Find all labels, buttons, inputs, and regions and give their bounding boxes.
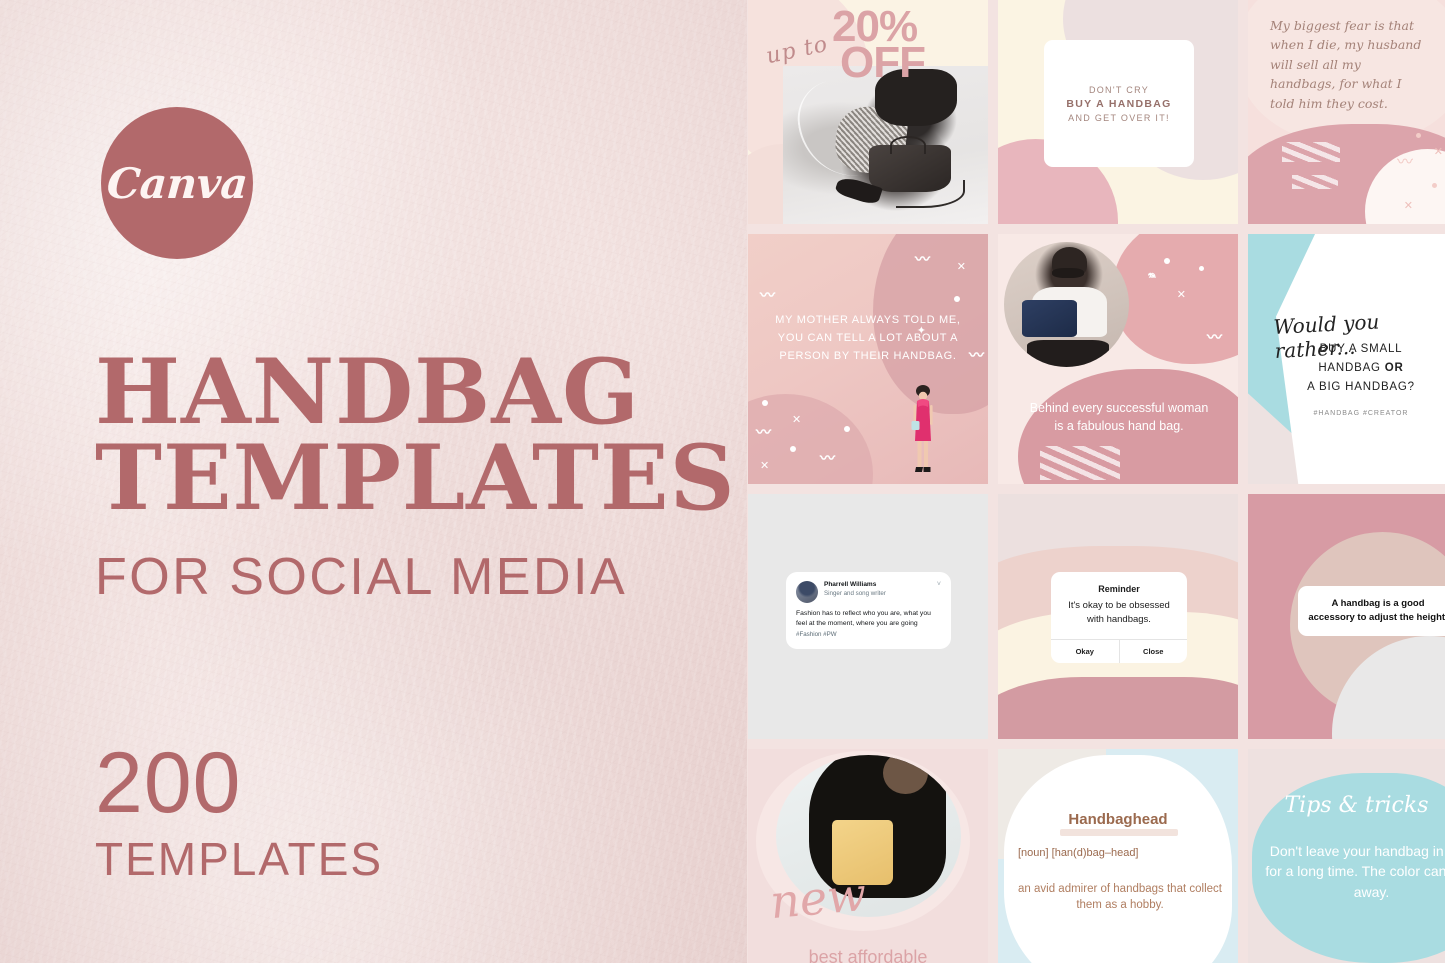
canva-logo-badge: Canva xyxy=(101,107,253,259)
decor-wave: 𝆮 xyxy=(1148,270,1156,285)
hero-panel: Canva HANDBAG TEMPLATES FOR SOCIAL MEDIA… xyxy=(0,0,747,963)
handbag-handle xyxy=(890,136,927,155)
template-tile-accessory[interactable]: A handbag is a good accessory to adjust … xyxy=(1248,494,1445,739)
template-tile-biggest-fear[interactable]: My biggest fear is that when I die, my h… xyxy=(1248,0,1445,224)
decor-dot xyxy=(1416,133,1421,138)
decor-dot xyxy=(790,446,796,452)
canva-wordmark: Canva xyxy=(105,159,249,208)
template-tile-dont-cry[interactable]: DON'T CRY BUY A HANDBAG AND GET OVER IT! xyxy=(998,0,1238,224)
sale-off-label: OFF xyxy=(840,38,925,88)
decor-x: ✕ xyxy=(1434,145,1443,158)
template-tile-behind-woman[interactable]: Behind every successful woman is a fabul… xyxy=(998,234,1238,484)
reminder-dialog: Reminder It's okay to be obsessed with h… xyxy=(1051,572,1187,663)
quote-line-2: BUY A HANDBAG xyxy=(1066,98,1171,110)
template-tile-tweet[interactable]: Pharrell Williams Singer and song writer… xyxy=(748,494,988,739)
model-head xyxy=(883,755,927,794)
handwritten-quote: My biggest fear is that when I die, my h… xyxy=(1270,16,1430,113)
template-count-block: 200 TEMPLATES xyxy=(95,740,383,886)
script-new-label: new xyxy=(768,867,869,929)
decor-dashes xyxy=(1292,175,1338,189)
decor-wave: 〰 xyxy=(1207,326,1222,347)
sunglasses xyxy=(1052,268,1085,278)
model-photo xyxy=(1004,242,1129,367)
caption-text: best affordable handbags xyxy=(762,947,974,963)
promo-cover: Canva HANDBAG TEMPLATES FOR SOCIAL MEDIA… xyxy=(0,0,1445,963)
decor-dot xyxy=(762,400,768,406)
template-tile-sale[interactable]: up to 20% OFF xyxy=(748,0,988,224)
decor-wave: 〰 xyxy=(969,344,984,365)
template-tile-mother-quote[interactable]: MY MOTHER ALWAYS TOLD ME, YOU CAN TELL A… xyxy=(748,234,988,484)
template-grid: up to 20% OFF DON'T CRY BUY A HANDBAG AN… xyxy=(748,0,1445,963)
model-photo xyxy=(783,66,988,224)
decor-dot xyxy=(1432,183,1437,188)
tips-body: Don't leave your handbag in light for a … xyxy=(1262,841,1445,902)
script-headline: Tips & tricks xyxy=(1248,793,1445,818)
question-line-1: BUY A SMALL xyxy=(1320,343,1403,355)
decor-x: ✕ xyxy=(957,260,966,273)
decor-dashes xyxy=(1282,142,1340,162)
template-count-number: 200 xyxy=(95,740,383,826)
headline-block: HANDBAG TEMPLATES FOR SOCIAL MEDIA xyxy=(95,350,695,607)
quote-line-1: DON'T CRY xyxy=(1089,85,1149,95)
decor-dot xyxy=(1164,258,1170,264)
decor-wave: 〰 xyxy=(820,447,835,468)
tweet-author-name: Pharrell Williams xyxy=(824,581,886,590)
navy-handbag xyxy=(1022,300,1077,338)
caption-line-1: best affordable xyxy=(809,947,928,963)
decor-x: ✕ xyxy=(760,459,769,472)
quote-text: MY MOTHER ALWAYS TOLD ME, YOU CAN TELL A… xyxy=(772,312,964,365)
dialog-title: Reminder xyxy=(1051,572,1187,599)
dialog-body: It's okay to be obsessed with handbags. xyxy=(1051,599,1187,639)
page-subtitle: FOR SOCIAL MEDIA xyxy=(95,547,695,607)
question-text: BUY A SMALL HANDBAG OR A BIG HANDBAG? xyxy=(1272,340,1445,397)
woman-illustration xyxy=(906,383,940,478)
question-line-2-prefix: HANDBAG xyxy=(1318,362,1384,374)
chevron-down-icon[interactable]: ˅ xyxy=(937,581,941,588)
decor-dot xyxy=(1199,266,1204,271)
decor-squiggle: 〰 xyxy=(1397,148,1413,172)
decor-x: ✦ xyxy=(917,324,926,337)
decor-band xyxy=(998,494,1238,550)
quote-line-3: AND GET OVER IT! xyxy=(1068,113,1170,123)
decor-white-blob xyxy=(1004,755,1232,963)
tweet-hashtags: #Fashion #PW xyxy=(796,631,941,638)
template-tile-reminder[interactable]: Reminder It's okay to be obsessed with h… xyxy=(998,494,1238,739)
decor-dot xyxy=(954,296,960,302)
decor-band xyxy=(998,677,1238,739)
quote-bubble: A handbag is a good accessory to adjust … xyxy=(1298,586,1445,636)
tweet-body: Fashion has to reflect who you are, what… xyxy=(796,609,941,629)
tweet-author-role: Singer and song writer xyxy=(824,590,886,598)
handbag-strap xyxy=(896,180,966,208)
black-pants xyxy=(1027,340,1110,368)
decor-dashes xyxy=(1040,446,1120,480)
question-line-3: A BIG HANDBAG? xyxy=(1307,381,1415,393)
template-tile-would-you-rather[interactable]: Would you rather... BUY A SMALL HANDBAG … xyxy=(1248,234,1445,484)
okay-button[interactable]: Okay xyxy=(1051,640,1119,663)
tweet-card: Pharrell Williams Singer and song writer… xyxy=(786,572,951,649)
decor-wave: 〰 xyxy=(756,421,771,442)
definition-pronunciation: [noun] [han(d)bag–head] xyxy=(1018,847,1139,859)
template-tile-definition[interactable]: Handbaghead [noun] [han(d)bag–head] an a… xyxy=(998,749,1238,963)
decor-x: ✕ xyxy=(792,413,801,426)
template-tile-new-handbags[interactable]: new best affordable handbags xyxy=(748,749,988,963)
quote-text: Behind every successful woman is a fabul… xyxy=(1024,399,1214,437)
tweet-header: Pharrell Williams Singer and song writer… xyxy=(796,581,941,603)
quote-card: DON'T CRY BUY A HANDBAG AND GET OVER IT! xyxy=(1044,40,1194,167)
decor-x: ✕ xyxy=(1177,288,1186,301)
page-title-line1: HANDBAG xyxy=(95,350,695,436)
decor-dot xyxy=(844,426,850,432)
page-title-line2: TEMPLATES xyxy=(95,436,695,522)
dialog-actions: Okay Close xyxy=(1051,639,1187,663)
decor-underline xyxy=(1060,829,1178,836)
decor-x: ✕ xyxy=(1404,199,1413,212)
definition-word: Handbaghead xyxy=(998,811,1238,828)
definition-meaning: an avid admirer of handbags that collect… xyxy=(1016,881,1224,914)
hashtags: #HANDBAG #CREATOR xyxy=(1272,410,1445,417)
avatar xyxy=(796,581,818,603)
decor-wave: 〰 xyxy=(915,248,930,269)
template-count-label: TEMPLATES xyxy=(95,832,383,886)
close-button[interactable]: Close xyxy=(1119,640,1188,663)
question-line-2-bold: OR xyxy=(1385,362,1404,374)
template-tile-tips-tricks[interactable]: Tips & tricks Don't leave your handbag i… xyxy=(1248,749,1445,963)
decor-wave: 〰 xyxy=(760,284,775,305)
